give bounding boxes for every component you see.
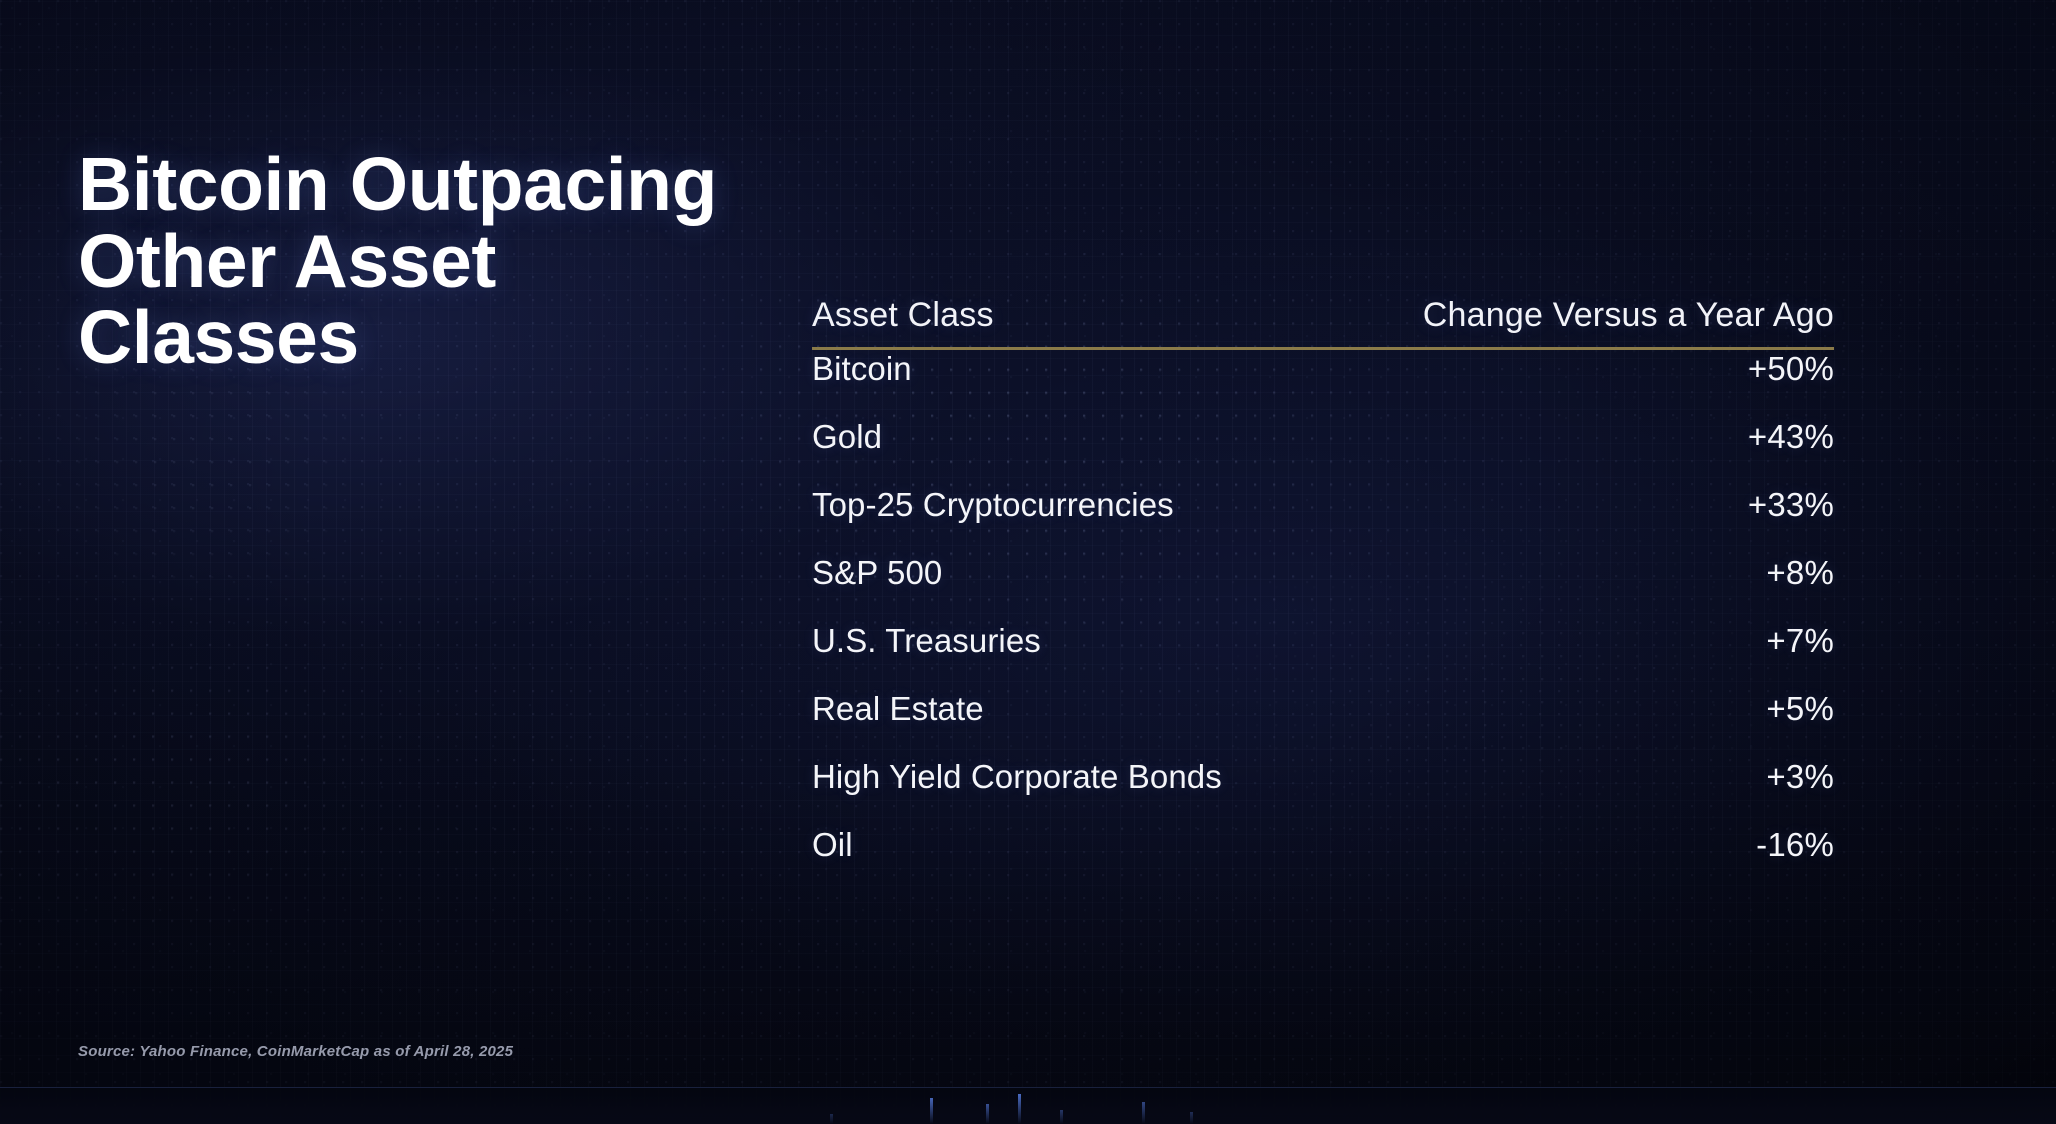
cell-asset-name: Gold [812,418,882,456]
page-title-line-3: Classes [78,299,858,376]
table-row: Real Estate +5% [812,690,1834,758]
player-bar-spark [1142,1102,1145,1124]
table-row: High Yield Corporate Bonds +3% [812,758,1834,826]
page-title-line-1: Bitcoin Outpacing [78,146,858,223]
player-bar-spark [986,1104,989,1124]
table-row: Oil -16% [812,826,1834,894]
table-row: U.S. Treasuries +7% [812,622,1834,690]
cell-asset-name: Top-25 Cryptocurrencies [812,486,1174,524]
column-header-change: Change Versus a Year Ago [1423,296,1834,335]
cell-asset-name: High Yield Corporate Bonds [812,758,1222,796]
cell-change-value: +5% [1766,690,1834,728]
table-header-row: Asset Class Change Versus a Year Ago [812,296,1834,350]
table-row: Gold +43% [812,418,1834,486]
cell-asset-name: Oil [812,826,853,864]
cell-change-value: -16% [1756,826,1834,864]
page-title-line-2: Other Asset [78,223,858,300]
video-player-bar[interactable] [0,1087,2056,1124]
cell-change-value: +43% [1748,418,1834,456]
cell-asset-name: Bitcoin [812,350,912,388]
player-bar-spark [1190,1112,1193,1124]
source-note: Source: Yahoo Finance, CoinMarketCap as … [78,1043,513,1060]
page-title: Bitcoin Outpacing Other Asset Classes [78,146,858,376]
cell-change-value: +3% [1766,758,1834,796]
asset-class-table: Asset Class Change Versus a Year Ago Bit… [812,296,1834,894]
column-header-asset-class: Asset Class [812,296,994,335]
cell-change-value: +7% [1766,622,1834,660]
cell-asset-name: Real Estate [812,690,984,728]
background-data-blotch [0,620,420,950]
cell-change-value: +50% [1748,350,1834,388]
cell-change-value: +33% [1748,486,1834,524]
cell-change-value: +8% [1766,554,1834,592]
slide-canvas: Bitcoin Outpacing Other Asset Classes As… [0,0,2056,1124]
player-bar-spark [1018,1094,1021,1124]
table-row: Bitcoin +50% [812,350,1834,418]
table-row: Top-25 Cryptocurrencies +33% [812,486,1834,554]
table-row: S&P 500 +8% [812,554,1834,622]
player-bar-spark [830,1114,833,1124]
player-bar-spark [1060,1110,1063,1124]
player-bar-spark [930,1098,933,1124]
cell-asset-name: S&P 500 [812,554,942,592]
cell-asset-name: U.S. Treasuries [812,622,1041,660]
